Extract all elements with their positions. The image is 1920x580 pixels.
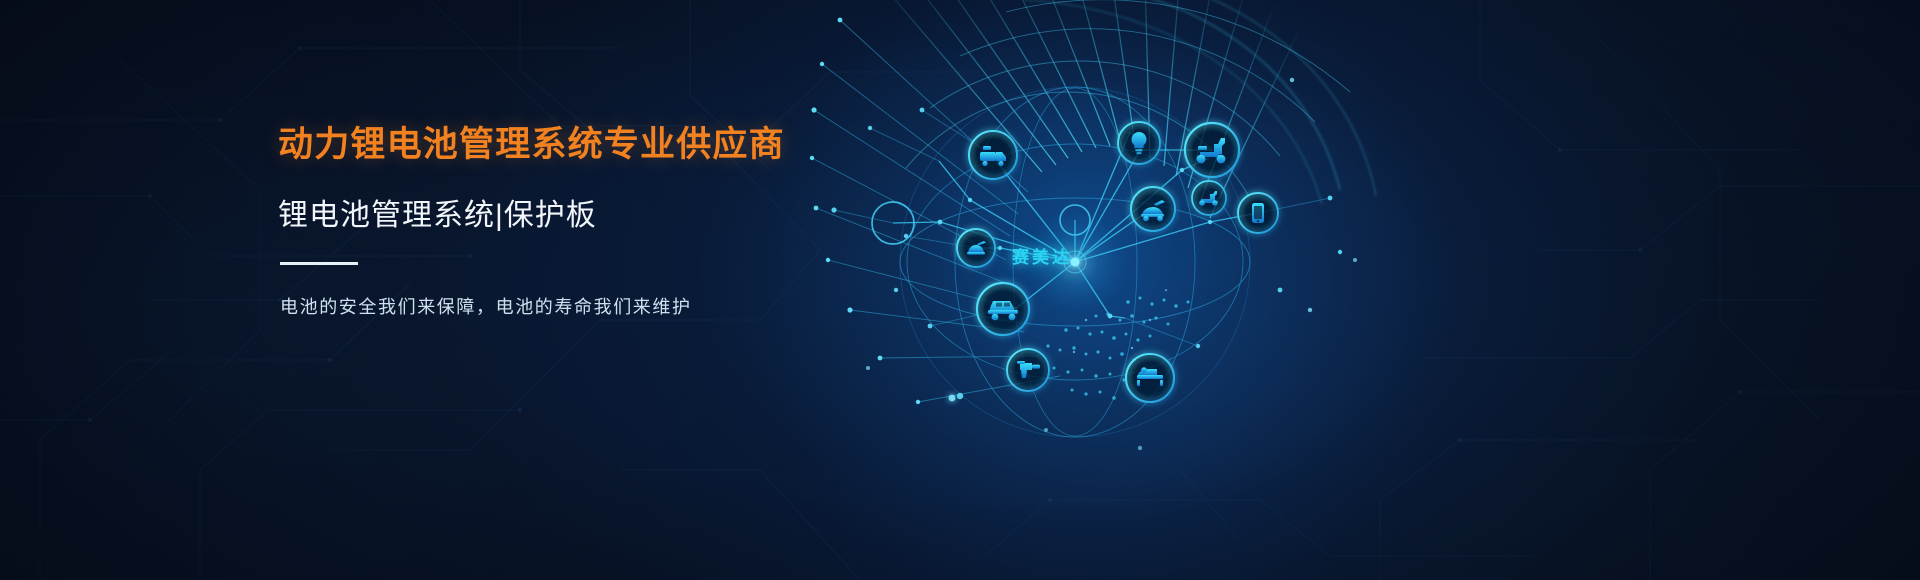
- node-lightbulb-icon: [1118, 122, 1160, 164]
- hero-copy: 动力锂电池管理系统专业供应商 锂电池管理系统|保护板 电池的安全我们来保障，电池…: [278, 126, 898, 319]
- globe-network-graphic: [810, 0, 1430, 580]
- node-car-icon: [977, 283, 1029, 335]
- page-title: 动力锂电池管理系统专业供应商: [278, 126, 898, 165]
- hero-tagline: 电池的安全我们来保障，电池的寿命我们来维护: [280, 293, 898, 319]
- node-bed-icon: [1126, 354, 1174, 402]
- title-divider: [280, 262, 358, 265]
- node-drill-icon: [1007, 349, 1049, 391]
- hero-subtitle: 锂电池管理系统|保护板: [278, 199, 898, 232]
- hero-banner: 动力锂电池管理系统专业供应商 锂电池管理系统|保护板 电池的安全我们来保障，电池…: [0, 0, 1920, 580]
- node-seat-icon: [957, 229, 995, 267]
- node-scooter-icon: [1185, 123, 1239, 177]
- node-phone-icon: [1238, 193, 1278, 233]
- node-scooter-icon-2: [1192, 181, 1226, 215]
- node-ebike-icon: [1131, 187, 1175, 231]
- node-truck-icon: [969, 131, 1017, 179]
- globe-brandmark: 赛美达: [1012, 243, 1072, 268]
